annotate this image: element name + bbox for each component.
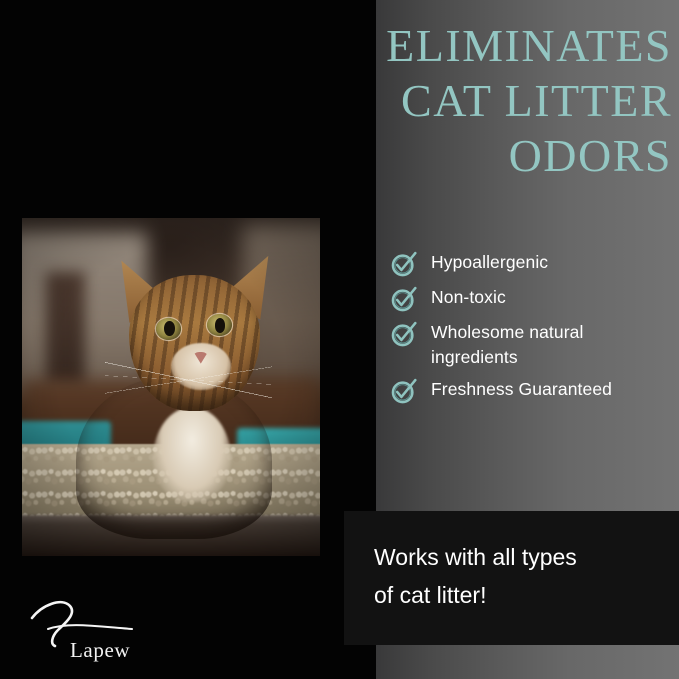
circle-check-icon [390, 378, 417, 405]
photo-vignette [22, 218, 320, 556]
brand-logo: Lapew [28, 600, 178, 662]
list-item: Hypoallergenic [390, 250, 675, 278]
list-item: Wholesome natural ingredients [390, 320, 675, 370]
list-item: Non-toxic [390, 285, 675, 313]
headline-line-1: ELIMINATES [300, 18, 672, 73]
kitten-litter-box-photo [22, 218, 320, 556]
list-item: Freshness Guaranteed [390, 377, 675, 405]
logo-wordmark: Lapew [70, 638, 130, 663]
tagline-box: Works with all types of cat litter! [344, 511, 679, 645]
page-title: ELIMINATES CAT LITTER ODORS [300, 18, 672, 183]
circle-check-icon [390, 321, 417, 348]
feature-label: Wholesome natural ingredients [431, 320, 675, 370]
headline-line-3: ODORS [300, 128, 672, 183]
circle-check-icon [390, 251, 417, 278]
feature-list: Hypoallergenic Non-toxic Wholesome n [390, 250, 675, 412]
tagline-line-1: Works with all types [374, 538, 664, 576]
feature-label: Freshness Guaranteed [431, 377, 612, 402]
feature-label: Hypoallergenic [431, 250, 548, 275]
feature-label: Non-toxic [431, 285, 506, 310]
circle-check-icon [390, 286, 417, 313]
tagline-text: Works with all types of cat litter! [374, 538, 664, 614]
tagline-line-2: of cat litter! [374, 576, 664, 614]
headline-line-2: CAT LITTER [300, 73, 672, 128]
ad-creative: ELIMINATES CAT LITTER ODORS [0, 0, 679, 679]
